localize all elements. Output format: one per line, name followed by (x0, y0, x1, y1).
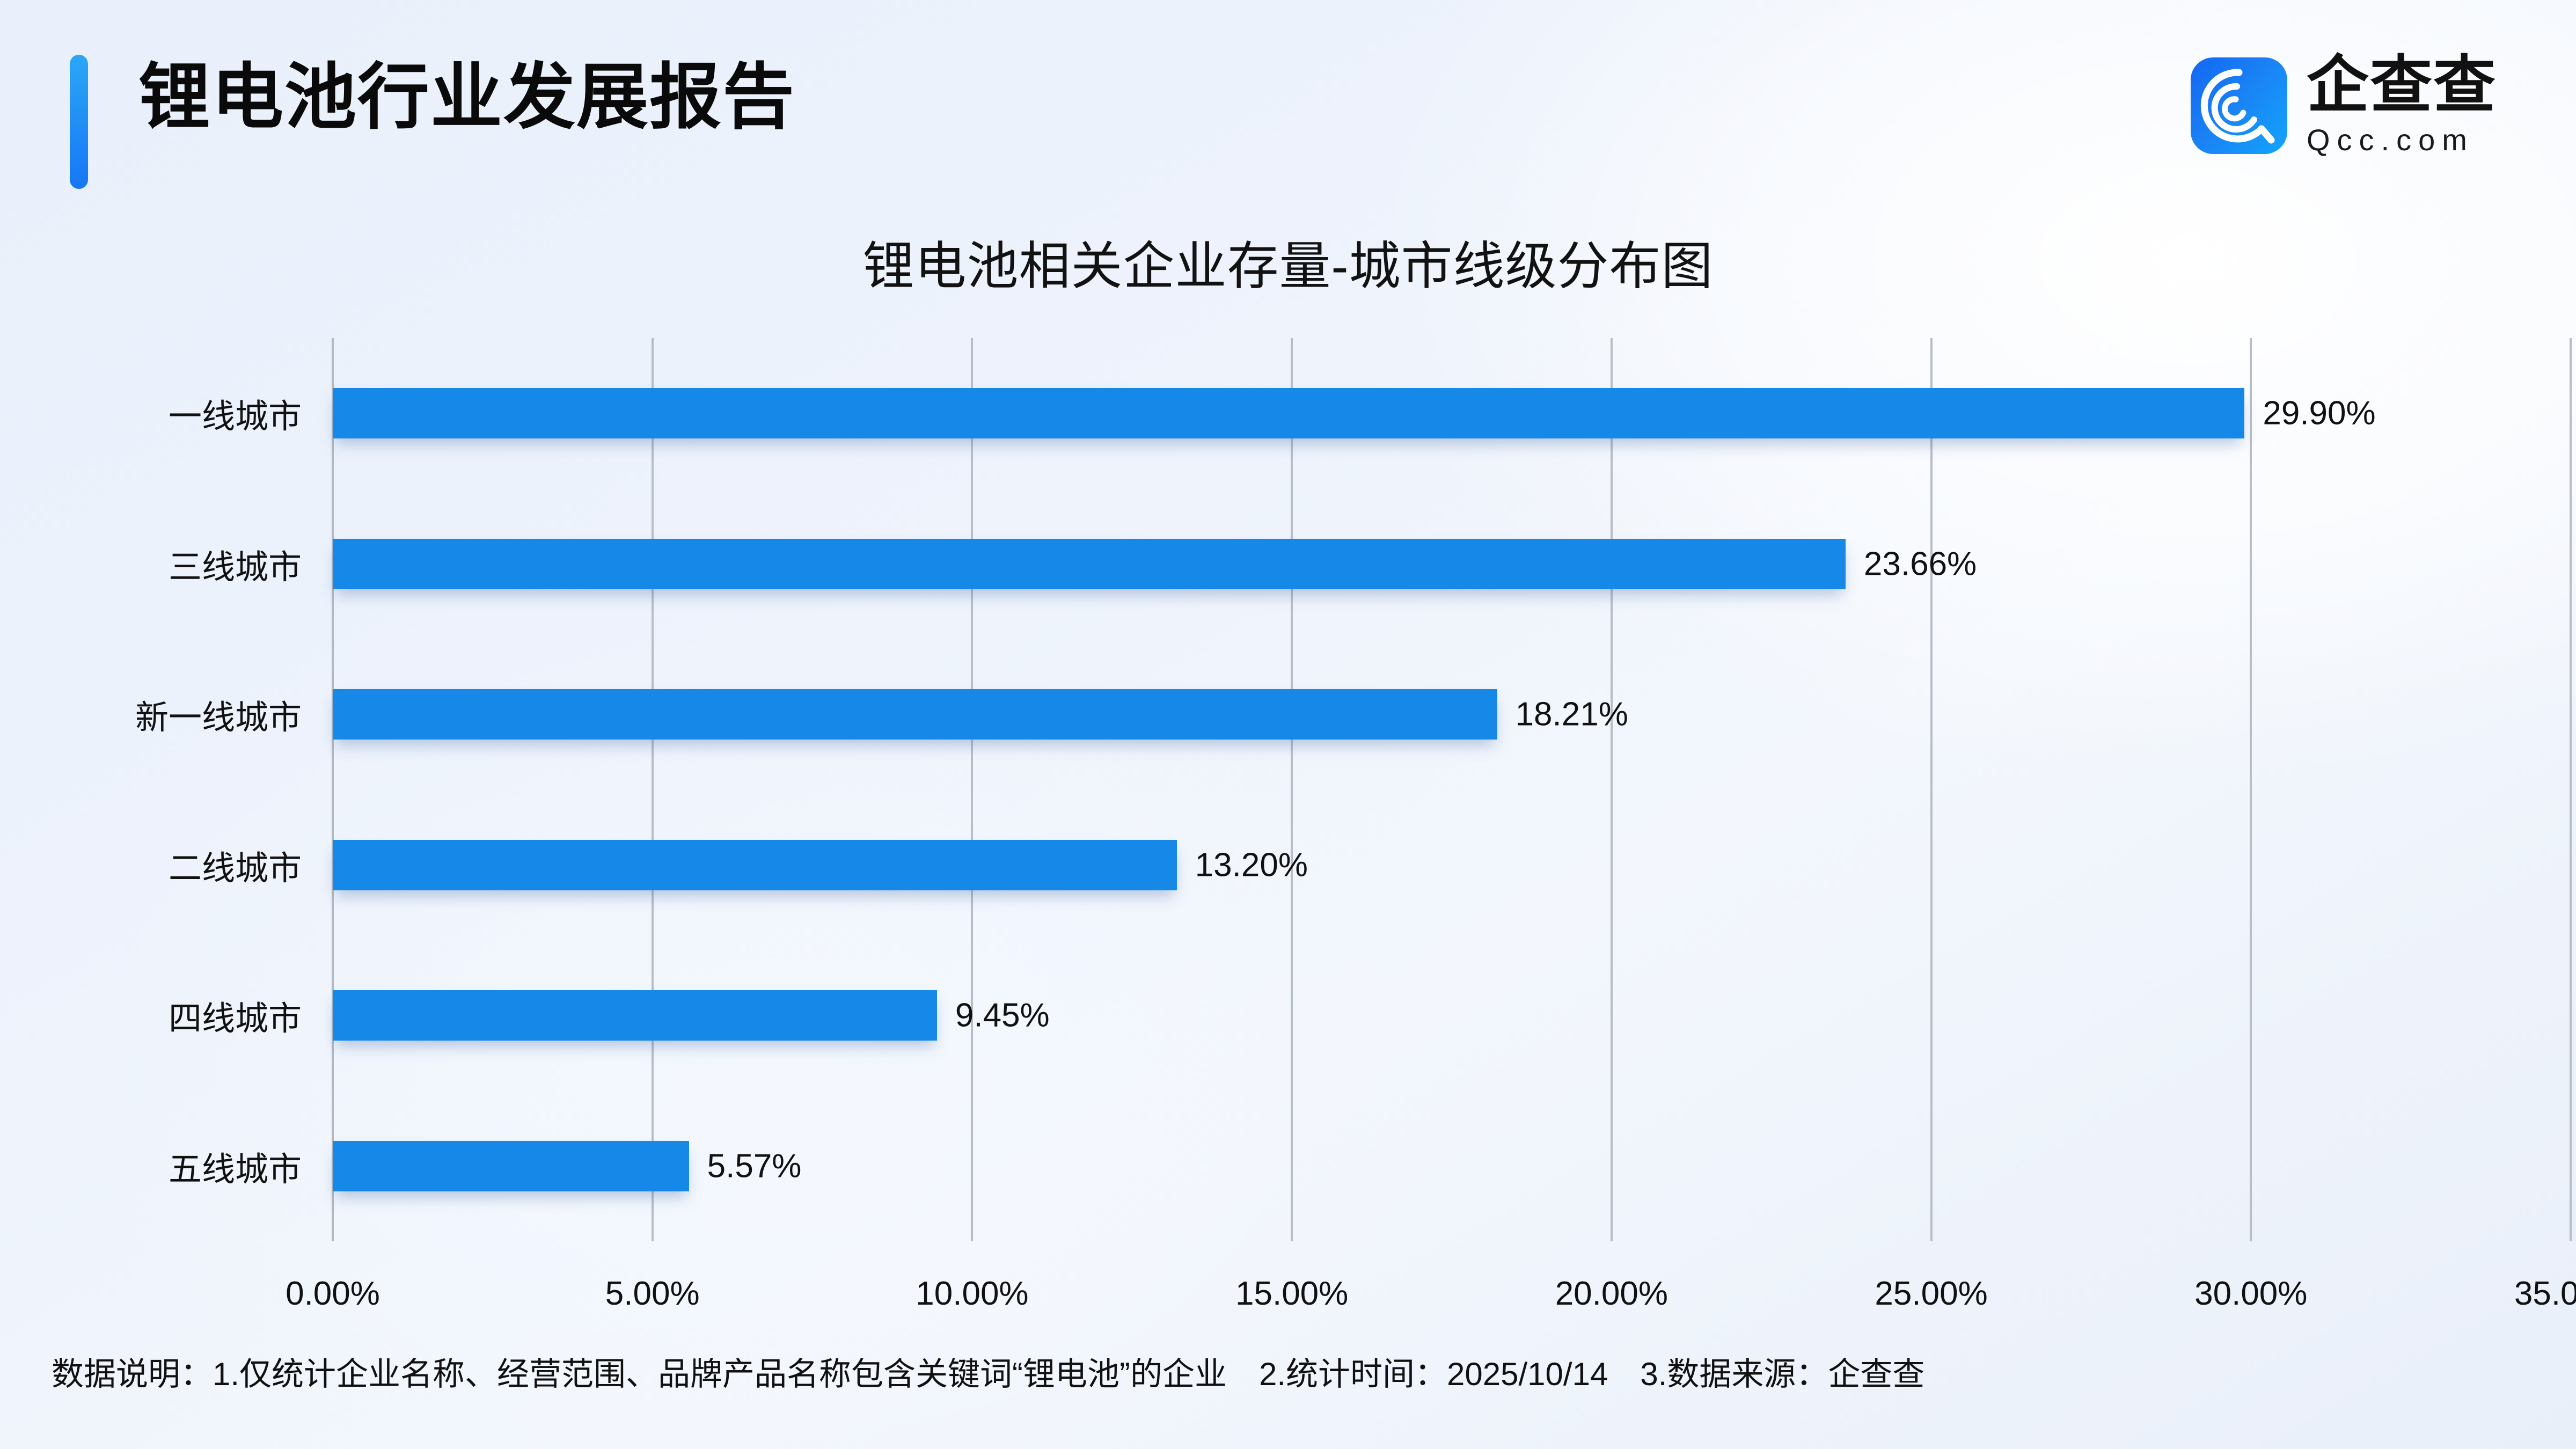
bar[interactable] (333, 388, 2244, 438)
bar-chart: 锂电池相关企业存量-城市线级分布图 一线城市29.90%三线城市23.66%新一… (0, 204, 2576, 1342)
x-axis-tick-label: 25.00% (1875, 1275, 1987, 1313)
brand-name-en: Qcc.com (2307, 122, 2497, 157)
x-axis-tick-label: 0.00% (286, 1275, 380, 1313)
x-axis-tick-label: 20.00% (1555, 1275, 1668, 1313)
y-axis-category-label: 四线城市 (169, 991, 302, 1040)
bar-row: 二线城市13.20% (333, 840, 2571, 890)
bar-value-label: 5.57% (707, 1147, 802, 1185)
bar-value-label: 18.21% (1516, 696, 1628, 734)
data-note: 数据说明：1.仅统计企业名称、经营范围、品牌产品名称包含关键词“锂电池”的企业 … (52, 1348, 1924, 1395)
title-accent-bar (70, 55, 88, 189)
bar-value-label: 13.20% (1195, 846, 1308, 884)
bar-value-label: 9.45% (955, 997, 1050, 1035)
y-axis-category-label: 五线城市 (169, 1142, 302, 1190)
bar-row: 五线城市5.57% (333, 1141, 2571, 1191)
bar-row: 三线城市23.66% (333, 539, 2571, 589)
y-axis-category-label: 二线城市 (169, 841, 302, 889)
bar-row: 四线城市9.45% (333, 990, 2571, 1041)
gridline (652, 338, 654, 1241)
gridline (971, 338, 973, 1241)
y-axis-category-label: 新一线城市 (135, 690, 302, 738)
page-header: 锂电池行业发展报告 企查查 Qcc.com (0, 0, 2576, 204)
gridline (1611, 338, 1613, 1241)
chart-title: 锂电池相关企业存量-城市线级分布图 (0, 224, 2576, 299)
gridline (1291, 338, 1293, 1241)
gridline (2250, 338, 2252, 1241)
x-axis-tick-label: 15.00% (1235, 1275, 1348, 1313)
bar[interactable] (333, 840, 1177, 890)
bar[interactable] (333, 1141, 689, 1191)
gridline (332, 338, 334, 1241)
gridline (1930, 338, 1933, 1241)
gridline (2570, 338, 2572, 1241)
bar[interactable] (333, 990, 937, 1041)
plot-area: 一线城市29.90%三线城市23.66%新一线城市18.21%二线城市13.20… (333, 338, 2571, 1241)
page-title: 锂电池行业发展报告 (138, 58, 795, 137)
bar[interactable] (333, 539, 1846, 589)
bar-row: 新一线城市18.21% (333, 689, 2571, 740)
bar-value-label: 29.90% (2263, 394, 2375, 433)
x-axis-tick-label: 5.00% (605, 1275, 700, 1313)
x-axis-tick-label: 35.00% (2514, 1275, 2576, 1313)
x-axis-tick-label: 10.00% (916, 1275, 1028, 1313)
brand-text: 企查查 Qcc.com (2307, 54, 2497, 157)
y-axis-category-label: 三线城市 (169, 540, 302, 588)
bar-value-label: 23.66% (1864, 545, 1977, 583)
bar[interactable] (333, 689, 1497, 740)
report-page: 锂电池行业发展报告 企查查 Qcc.com 锂电池相关企业存量-城市线级分布图 (0, 0, 2576, 1449)
brand-name-cn: 企查查 (2307, 54, 2497, 116)
brand-logo[interactable]: 企查查 Qcc.com (2191, 54, 2497, 157)
y-axis-category-label: 一线城市 (169, 389, 302, 437)
qcc-logo-icon (2191, 57, 2287, 154)
bar-row: 一线城市29.90% (333, 388, 2571, 438)
x-axis-tick-label: 30.00% (2194, 1275, 2307, 1313)
